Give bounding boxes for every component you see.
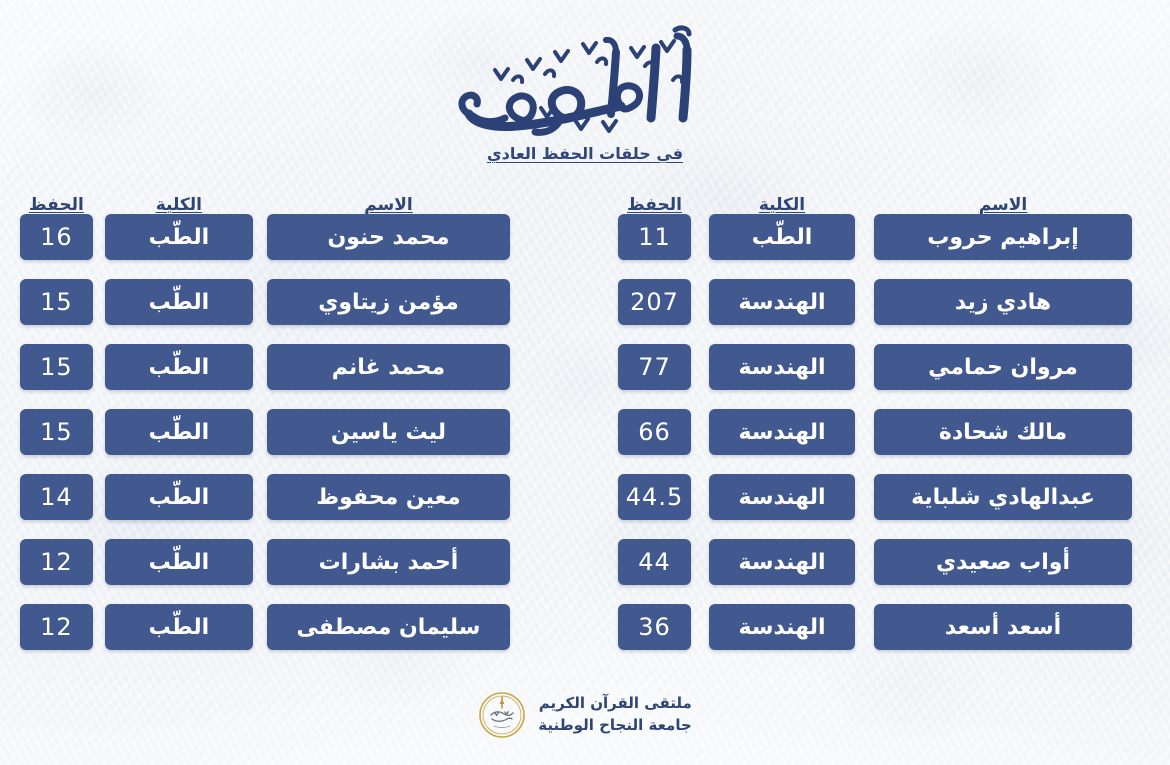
poster-page: أهل الهمم في حلقات الحفظ العادي الاسم ال… <box>0 0 1170 765</box>
cell-name: مروان حمامي <box>874 344 1132 390</box>
table-row: سليمان مصطفىالطّب12 <box>20 604 510 650</box>
cell-memorization-score: 12 <box>20 539 93 585</box>
cell-name: عبدالهادي شلباية <box>874 474 1132 520</box>
table-row: مؤمن زيتاويالطّب15 <box>20 279 510 325</box>
cell-college: الهندسة <box>709 409 855 455</box>
cell-memorization-score: 11 <box>618 214 691 260</box>
cell-memorization-score: 15 <box>20 279 93 325</box>
cell-memorization-score: 15 <box>20 409 93 455</box>
cell-memorization-score: 15 <box>20 344 93 390</box>
table-right: الاسم الكلية الحفظ محمد حنونالطّب16مؤمن … <box>20 188 560 669</box>
quran-forum-emblem-icon: قرآن <box>478 691 526 739</box>
column-header-name: الاسم <box>874 197 1132 214</box>
subtitle: في حلقات الحفظ العادي <box>0 144 1170 163</box>
table-right-header: الاسم الكلية الحفظ <box>20 188 510 214</box>
column-header-college: الكلية <box>709 197 855 214</box>
column-header-college: الكلية <box>105 197 252 214</box>
cell-college: الطّب <box>105 539 252 585</box>
table-row: أسعد أسعدالهندسة36 <box>560 604 1132 650</box>
table-right-body: محمد حنونالطّب16مؤمن زيتاويالطّب15محمد غ… <box>20 214 510 669</box>
table-row: مروان حماميالهندسة77 <box>560 344 1132 390</box>
cell-name: أحمد بشارات <box>267 539 510 585</box>
table-row: مالك شحادةالهندسة66 <box>560 409 1132 455</box>
cell-memorization-score: 16 <box>20 214 93 260</box>
cell-name: محمد حنون <box>267 214 510 260</box>
cell-college: الطّب <box>709 214 855 260</box>
cell-name: إبراهيم حروب <box>874 214 1132 260</box>
cell-memorization-score: 207 <box>618 279 691 325</box>
cell-memorization-score: 36 <box>618 604 691 650</box>
footer-line-1: ملتقى القرآن الكريم <box>538 693 692 715</box>
footer: ملتقى القرآن الكريم جامعة النجاح الوطنية… <box>0 691 1170 739</box>
table-row: معين محفوظالطّب14 <box>20 474 510 520</box>
column-header-memorization: الحفظ <box>20 197 93 214</box>
cell-name: محمد غانم <box>267 344 510 390</box>
cell-name: أسعد أسعد <box>874 604 1132 650</box>
cell-college: الهندسة <box>709 539 855 585</box>
table-row: إبراهيم حروبالطّب11 <box>560 214 1132 260</box>
cell-name: أواب صعيدي <box>874 539 1132 585</box>
cell-college: الطّب <box>105 344 252 390</box>
cell-name: سليمان مصطفى <box>267 604 510 650</box>
cell-college: الهندسة <box>709 344 855 390</box>
table-row: ليث ياسينالطّب15 <box>20 409 510 455</box>
results-tables: الاسم الكلية الحفظ محمد حنونالطّب16مؤمن … <box>0 188 1170 669</box>
cell-college: الطّب <box>105 604 252 650</box>
cell-name: هادي زيد <box>874 279 1132 325</box>
masthead: أهل الهمم في حلقات الحفظ العادي <box>0 0 1170 163</box>
cell-memorization-score: 14 <box>20 474 93 520</box>
cell-memorization-score: 66 <box>618 409 691 455</box>
cell-college: الهندسة <box>709 604 855 650</box>
cell-college: الطّب <box>105 214 252 260</box>
cell-name: مالك شحادة <box>874 409 1132 455</box>
table-left-body: إبراهيم حروبالطّب11هادي زيدالهندسة207مرو… <box>560 214 1132 669</box>
table-row: أحمد بشاراتالطّب12 <box>20 539 510 585</box>
table-row: محمد حنونالطّب16 <box>20 214 510 260</box>
cell-memorization-score: 44 <box>618 539 691 585</box>
title-calligraphy-logo: أهل الهمم <box>435 22 735 140</box>
cell-college: الهندسة <box>709 279 855 325</box>
footer-line-2: جامعة النجاح الوطنية <box>538 715 692 737</box>
cell-college: الطّب <box>105 409 252 455</box>
column-header-memorization: الحفظ <box>618 197 691 214</box>
table-left-header: الاسم الكلية الحفظ <box>560 188 1132 214</box>
table-row: هادي زيدالهندسة207 <box>560 279 1132 325</box>
table-left: الاسم الكلية الحفظ إبراهيم حروبالطّب11ها… <box>560 188 1150 669</box>
cell-name: معين محفوظ <box>267 474 510 520</box>
cell-college: الهندسة <box>709 474 855 520</box>
column-header-name: الاسم <box>267 197 510 214</box>
cell-name: ليث ياسين <box>267 409 510 455</box>
cell-memorization-score: 77 <box>618 344 691 390</box>
cell-name: مؤمن زيتاوي <box>267 279 510 325</box>
cell-memorization-score: 44.5 <box>618 474 691 520</box>
cell-memorization-score: 12 <box>20 604 93 650</box>
cell-college: الطّب <box>105 474 252 520</box>
footer-organization: ملتقى القرآن الكريم جامعة النجاح الوطنية <box>538 693 692 737</box>
table-row: محمد غانمالطّب15 <box>20 344 510 390</box>
cell-college: الطّب <box>105 279 252 325</box>
table-row: عبدالهادي شلبايةالهندسة44.5 <box>560 474 1132 520</box>
table-row: أواب صعيديالهندسة44 <box>560 539 1132 585</box>
